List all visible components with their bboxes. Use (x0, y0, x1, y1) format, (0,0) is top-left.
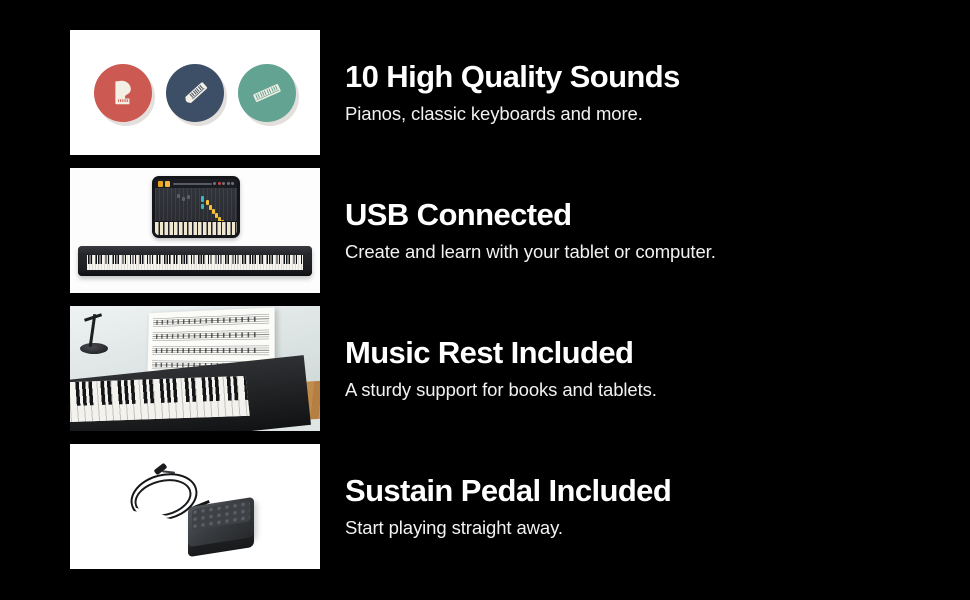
tablet-screen (155, 179, 237, 235)
sound-icons-image (70, 30, 320, 155)
note-block (201, 196, 204, 202)
feature-text-sounds: 10 High Quality Sounds Pianos, classic k… (320, 60, 970, 125)
toolbar-chip-icon (165, 181, 170, 187)
toolbar-dot-icon (227, 182, 230, 185)
app-keyboard-strip (155, 221, 237, 235)
piano-black-keys (87, 255, 303, 264)
music-rest-image (70, 306, 320, 431)
toolbar-dot-icon (213, 182, 216, 185)
feature-subtitle: Start playing straight away. (345, 516, 970, 539)
feature-text-music-rest: Music Rest Included A sturdy support for… (320, 336, 970, 401)
digital-piano (78, 246, 312, 276)
feature-subtitle: A sturdy support for books and tablets. (345, 378, 970, 401)
piano-front-edge (78, 270, 312, 276)
tablet-device (152, 176, 240, 238)
music-rest-scene (70, 306, 320, 431)
toolbar-dot-icon (231, 182, 234, 185)
feature-title: Sustain Pedal Included (345, 474, 970, 509)
music-staff (152, 346, 269, 356)
usb-connected-image (70, 168, 320, 293)
app-toolbar (155, 179, 237, 188)
note-block (182, 197, 185, 201)
grand-piano-icon (94, 64, 152, 122)
note-block (201, 204, 204, 209)
feature-title: 10 High Quality Sounds (345, 60, 970, 95)
feature-list: 10 High Quality Sounds Pianos, classic k… (0, 0, 970, 600)
toolbar-title-placeholder (173, 183, 212, 185)
feature-text-usb: USB Connected Create and learn with your… (320, 198, 970, 263)
note-block (187, 195, 190, 199)
feature-text-sustain-pedal: Sustain Pedal Included Start playing str… (320, 474, 970, 539)
feature-row-sustain-pedal: Sustain Pedal Included Start playing str… (70, 444, 970, 569)
note-block (177, 194, 180, 198)
icon-trio (70, 30, 320, 155)
toolbar-dot-icon (222, 182, 225, 185)
toolbar-chip-icon (158, 181, 163, 187)
keytar-icon (166, 64, 224, 122)
keyboard-icon (238, 64, 296, 122)
music-staff (153, 314, 269, 327)
piano-roll-grid (155, 188, 237, 221)
sustain-pedal-image (70, 444, 320, 569)
feature-subtitle: Pianos, classic keyboards and more. (345, 102, 970, 125)
pedal-tread-plate (192, 500, 250, 530)
feature-row-usb: USB Connected Create and learn with your… (70, 168, 970, 293)
feature-row-music-rest: Music Rest Included A sturdy support for… (70, 306, 970, 431)
usb-scene (70, 168, 320, 293)
feature-title: USB Connected (345, 198, 970, 233)
desk-lamp-base (80, 343, 108, 354)
piano-top-panel (78, 246, 312, 255)
sustain-pedal-scene (70, 444, 320, 569)
feature-row-sounds: 10 High Quality Sounds Pianos, classic k… (70, 30, 970, 155)
note-block (206, 200, 209, 205)
feature-subtitle: Create and learn with your tablet or com… (345, 240, 970, 263)
record-dot-icon (218, 182, 221, 185)
music-staff (153, 330, 270, 341)
feature-title: Music Rest Included (345, 336, 970, 371)
